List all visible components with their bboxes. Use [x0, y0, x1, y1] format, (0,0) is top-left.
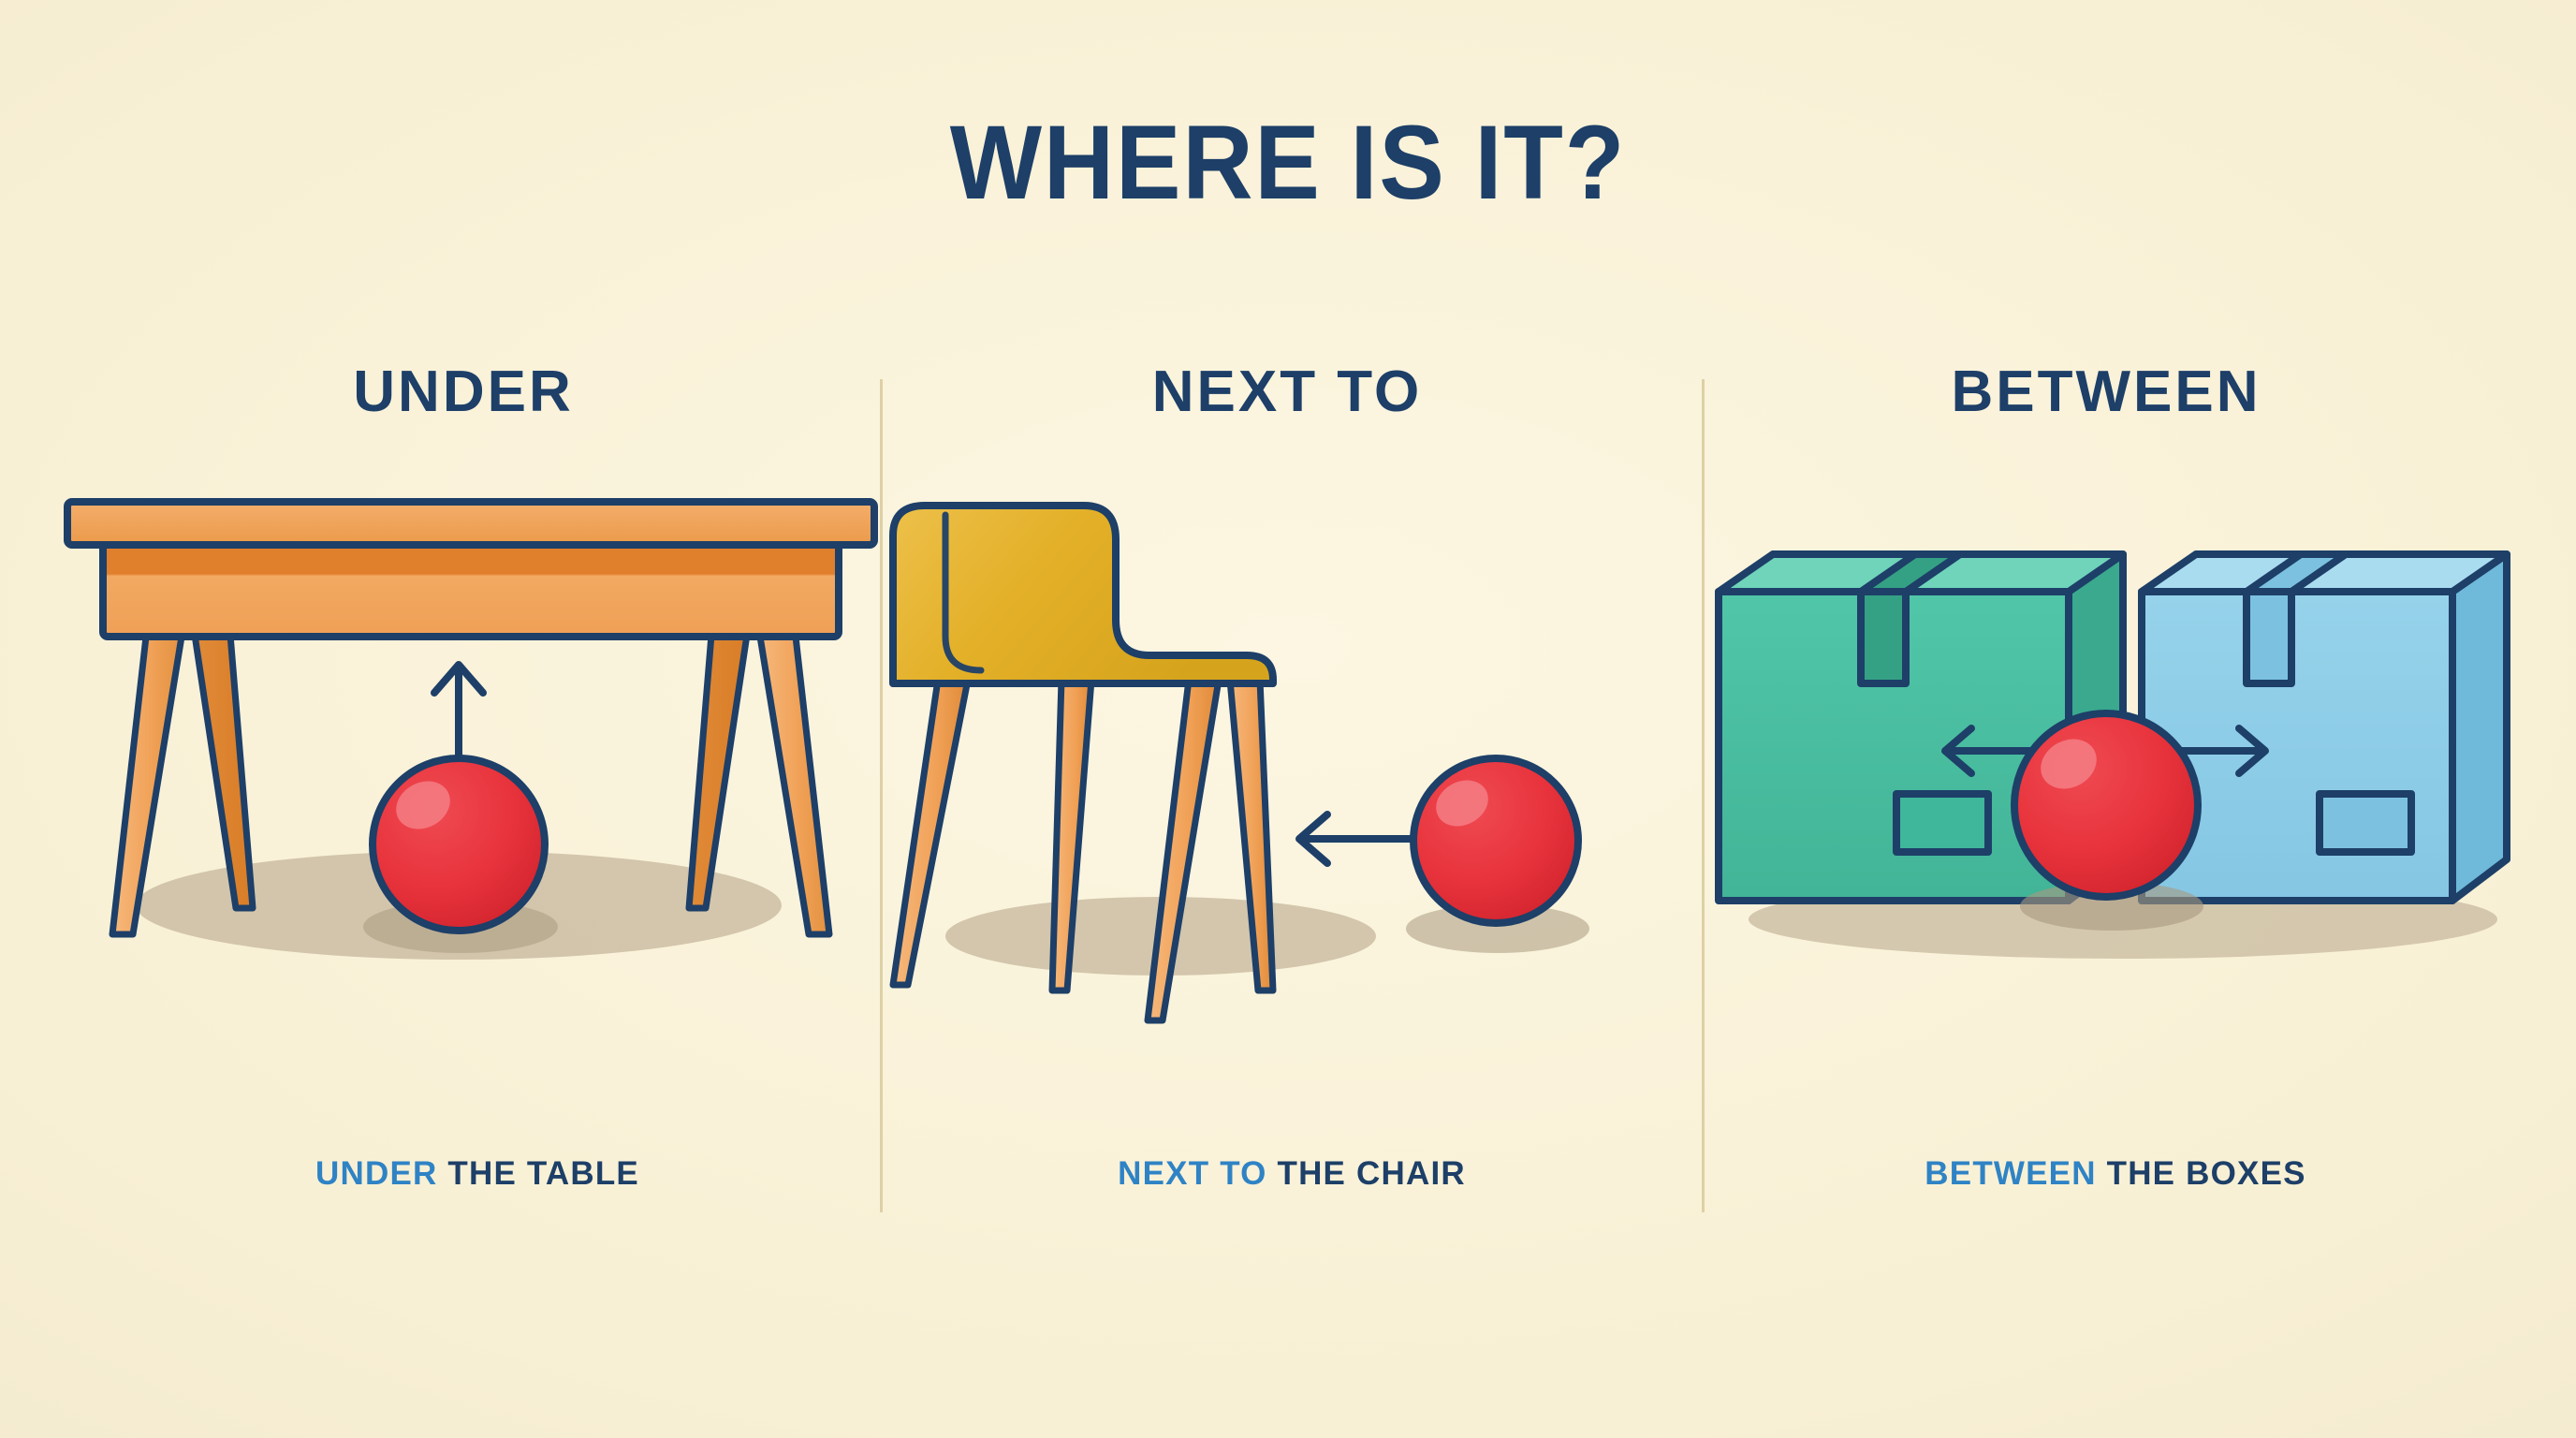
column-heading-next-to: NEXT TO — [866, 363, 1708, 421]
red-ball — [373, 758, 545, 931]
red-ball — [1413, 758, 1578, 923]
red-ball — [2014, 713, 2198, 897]
table-leg-front-right — [760, 637, 829, 934]
box-green-label — [1896, 794, 1988, 852]
box-blue-tape — [2247, 592, 2291, 683]
box-blue-label — [2320, 794, 2411, 852]
caption-between: BETWEEN THE BOXES — [1694, 1157, 2537, 1190]
box-blue — [2142, 554, 2507, 901]
table-top — [67, 502, 874, 545]
page-title: WHERE IS IT? — [90, 110, 2485, 215]
caption-under-highlight: UNDER — [315, 1155, 437, 1192]
column-heading-under: UNDER — [42, 363, 885, 421]
illustration-next-to-chair — [880, 496, 1704, 1058]
column-heading-between: BETWEEN — [1685, 363, 2527, 421]
table-apron — [103, 536, 839, 637]
caption-between-rest: THE BOXES — [2097, 1155, 2306, 1192]
box-blue-side — [2452, 554, 2507, 901]
table-leg-back-left — [195, 635, 253, 908]
caption-next-to-rest: THE CHAIR — [1267, 1155, 1466, 1192]
caption-next-to-highlight: NEXT TO — [1118, 1155, 1266, 1192]
box-green-tape — [1861, 592, 1906, 683]
caption-between-highlight: BETWEEN — [1925, 1155, 2096, 1192]
illustration-between-boxes — [1702, 496, 2525, 1058]
illustration-under-table — [56, 496, 880, 1058]
caption-next-to: NEXT TO THE CHAIR — [871, 1157, 1713, 1190]
caption-under-rest: THE TABLE — [437, 1155, 639, 1192]
poster-canvas: WHERE IS IT? UNDER NEXT TO BETWEEN — [0, 0, 2576, 1438]
caption-under: UNDER THE TABLE — [56, 1157, 899, 1190]
table-leg-back-right — [689, 635, 747, 908]
